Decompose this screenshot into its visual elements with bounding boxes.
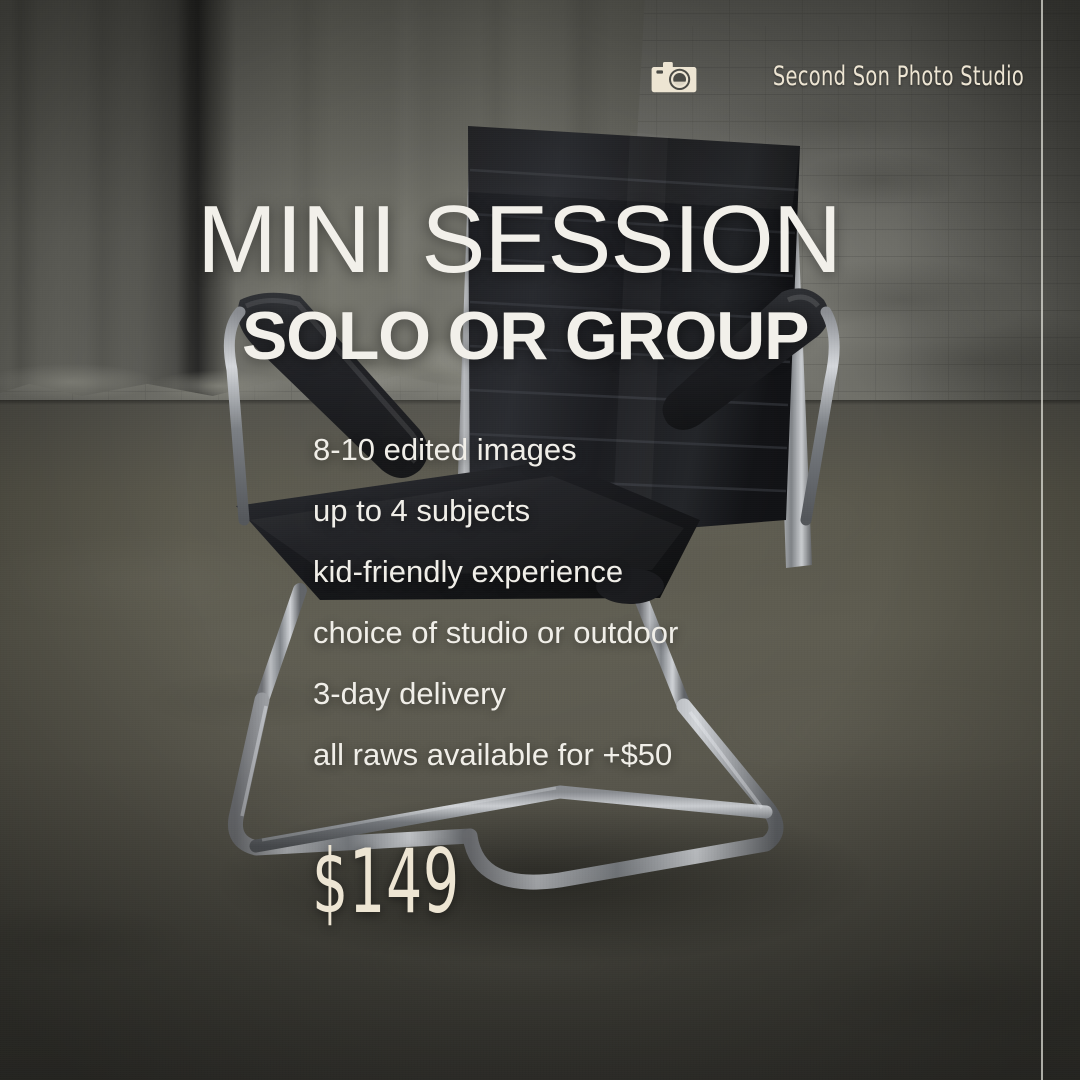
camera-icon: [651, 58, 697, 94]
price-label: $149: [312, 838, 460, 926]
vertical-frame-line: [1041, 0, 1043, 1080]
feature-item: up to 4 subjects: [313, 495, 933, 526]
promo-poster: Second Son Photo Studio MINI SESSION SOL…: [0, 0, 1080, 1080]
feature-item: all raws available for +$50: [313, 739, 933, 770]
headline-secondary: SOLO OR GROUP: [242, 302, 957, 370]
feature-list: 8-10 edited images up to 4 subjects kid-…: [313, 434, 933, 770]
feature-item: kid-friendly experience: [313, 556, 933, 587]
studio-name: Second Son Photo Studio: [773, 63, 1024, 90]
headline-block: MINI SESSION SOLO OR GROUP: [197, 196, 957, 370]
headline-primary: MINI SESSION: [197, 196, 957, 284]
feature-item: choice of studio or outdoor: [313, 617, 933, 648]
feature-item: 3-day delivery: [313, 678, 933, 709]
feature-item: 8-10 edited images: [313, 434, 933, 465]
studio-logo[interactable]: Second Son Photo Studio: [651, 52, 1024, 100]
